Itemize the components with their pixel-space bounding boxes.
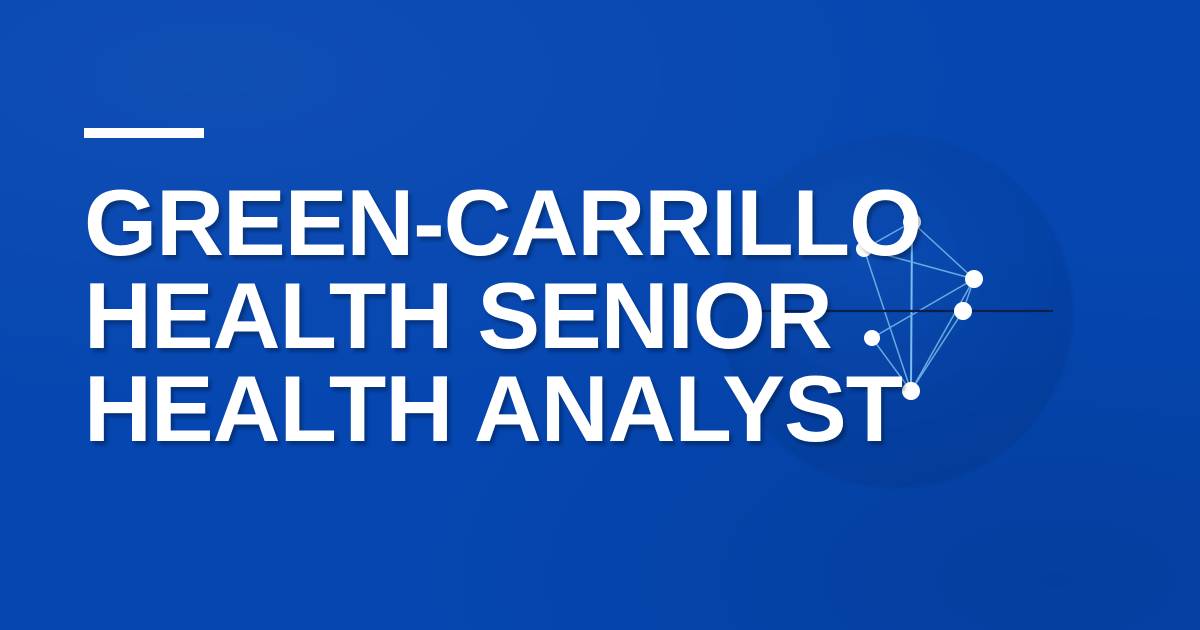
social-card-canvas: GREEN-CARRILLO HEALTH SENIOR HEALTH ANAL…: [0, 0, 1200, 630]
title-line-1: GREEN-CARRILLO: [84, 176, 944, 269]
accent-bar: [84, 128, 204, 138]
page-title: GREEN-CARRILLO HEALTH SENIOR HEALTH ANAL…: [84, 176, 944, 455]
title-line-3: HEALTH ANALYST: [84, 362, 944, 455]
title-block: GREEN-CARRILLO HEALTH SENIOR HEALTH ANAL…: [84, 128, 944, 455]
title-line-2: HEALTH SENIOR: [84, 269, 944, 362]
